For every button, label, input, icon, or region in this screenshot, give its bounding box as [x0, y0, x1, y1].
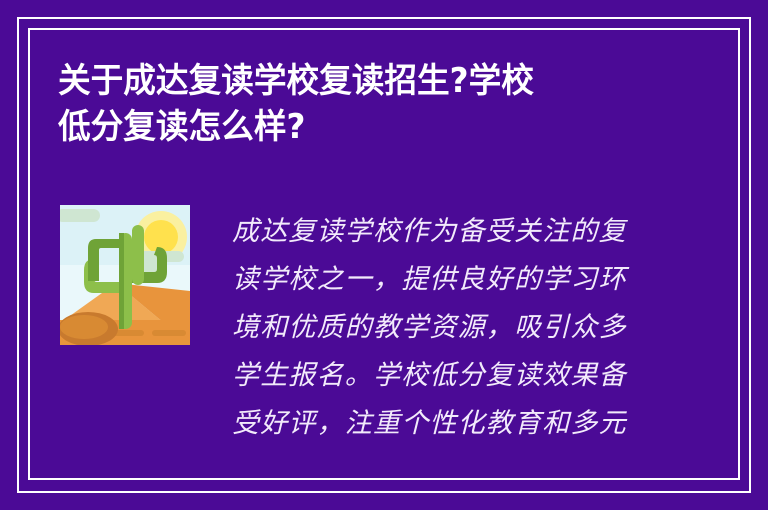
article-card: 关于成达复读学校复读招生?学校 低分复读怎么样? [0, 0, 768, 510]
article-body-line: 境和优质的教学资源，吸引众多 [232, 304, 652, 352]
article-body-line: 成达复读学校作为备受关注的复 [232, 208, 652, 256]
page-title-line-2: 低分复读怎么样? [58, 104, 672, 150]
desert-cactus-illustration [60, 205, 190, 345]
article-body-line: 学生报名。学校低分复读效果备 [232, 352, 652, 400]
article-body: 成达复读学校作为备受关注的复 读学校之一，提供良好的学习环 境和优质的教学资源，… [232, 208, 652, 448]
page-title: 关于成达复读学校复读招生?学校 低分复读怎么样? [58, 58, 698, 150]
article-body-line: 读学校之一，提供良好的学习环 [232, 256, 652, 304]
article-body-line: 受好评，注重个性化教育和多元 [232, 400, 652, 448]
page-title-line-1: 关于成达复读学校复读招生?学校 [58, 58, 672, 104]
